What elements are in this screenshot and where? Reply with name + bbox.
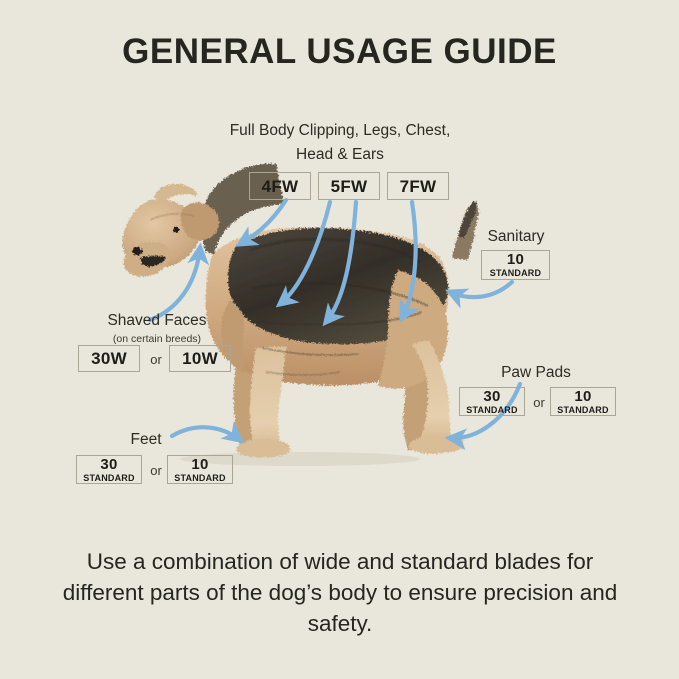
blade-box-5fw[interactable]: 5FW xyxy=(318,172,380,200)
shaved-faces-label: Shaved Faces xyxy=(73,311,241,331)
blade-value: 30 xyxy=(483,388,500,405)
blade-unit: STANDARD xyxy=(174,473,225,484)
guide-caption: Use a combination of wide and standard b… xyxy=(55,546,625,639)
shaved-faces-separator: or xyxy=(143,352,169,367)
blade-box-sanitary-10[interactable]: 10 STANDARD xyxy=(481,250,550,280)
blade-box-pawpads-30[interactable]: 30 STANDARD xyxy=(459,387,525,416)
feet-separator: or xyxy=(145,463,167,478)
shaved-faces-sublabel: (on certain breeds) xyxy=(73,333,241,345)
blade-box-feet-30[interactable]: 30 STANDARD xyxy=(76,455,142,484)
dog-nose xyxy=(132,247,142,255)
blade-box-4fw[interactable]: 4FW xyxy=(249,172,311,200)
blade-box-feet-10[interactable]: 10 STANDARD xyxy=(167,455,233,484)
dog-head-tuft xyxy=(154,184,198,204)
blade-unit: STANDARD xyxy=(83,473,134,484)
feet-label: Feet xyxy=(86,430,206,450)
blade-value: 30W xyxy=(91,350,127,367)
paw-pads-separator: or xyxy=(528,395,550,410)
blade-unit: STANDARD xyxy=(557,405,608,416)
blade-value: 4FW xyxy=(262,178,299,195)
blade-value: 5FW xyxy=(331,178,368,195)
blade-box-7fw[interactable]: 7FW xyxy=(387,172,449,200)
full-body-label-line2: Head & Ears xyxy=(190,145,490,165)
dog-eye xyxy=(173,227,179,233)
blade-box-10w[interactable]: 10W xyxy=(169,345,231,372)
full-body-label-line1: Full Body Clipping, Legs, Chest, xyxy=(190,121,490,141)
blade-box-pawpads-10[interactable]: 10 STANDARD xyxy=(550,387,616,416)
blade-value: 10 xyxy=(507,251,524,268)
blade-value: 10W xyxy=(182,350,218,367)
blade-unit: STANDARD xyxy=(466,405,517,416)
blade-unit: STANDARD xyxy=(490,268,541,279)
usage-guide-infographic: GENERAL USAGE GUIDE xyxy=(0,0,679,679)
blade-value: 7FW xyxy=(400,178,437,195)
blade-value: 30 xyxy=(100,456,117,473)
paw-pads-label: Paw Pads xyxy=(452,363,620,383)
sanitary-label: Sanitary xyxy=(432,227,600,247)
blade-value: 10 xyxy=(574,388,591,405)
blade-box-30w[interactable]: 30W xyxy=(78,345,140,372)
blade-value: 10 xyxy=(191,456,208,473)
